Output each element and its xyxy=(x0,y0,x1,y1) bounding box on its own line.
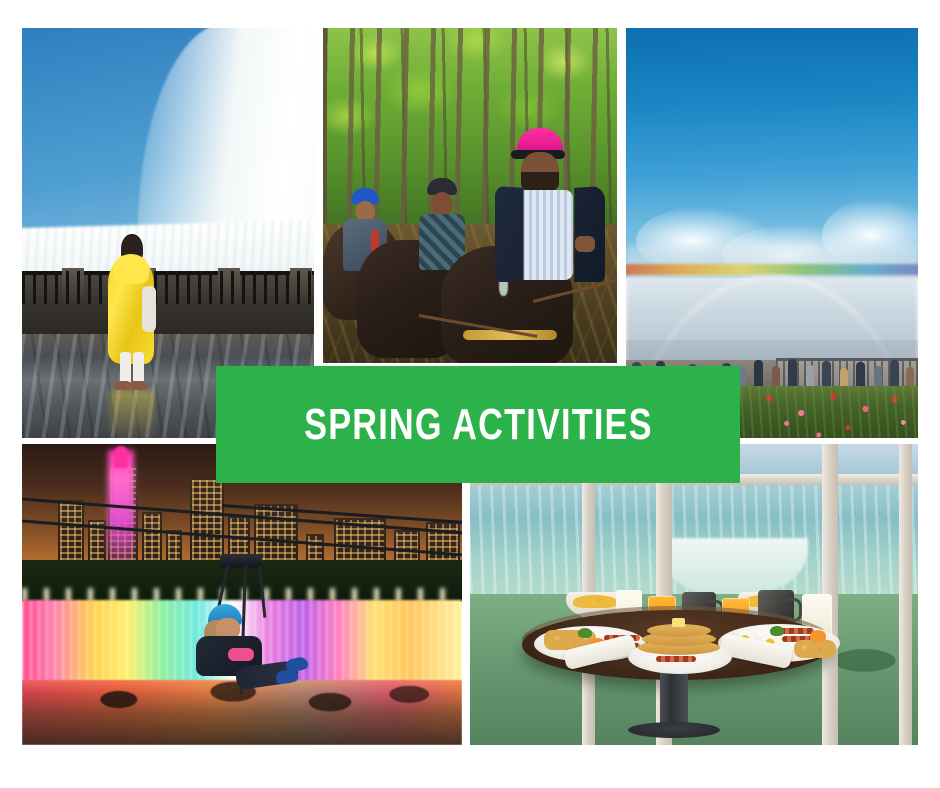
photo-horseback-riding xyxy=(323,28,617,363)
bacon-strip xyxy=(780,628,814,634)
home-fries xyxy=(794,640,836,658)
butter-pat xyxy=(672,618,685,627)
tower-beacon xyxy=(114,446,128,468)
photo-night-zipline xyxy=(22,444,462,745)
title-banner: SPRING ACTIVITIES xyxy=(216,366,740,483)
shoe-right xyxy=(130,381,148,390)
leg-right xyxy=(133,352,144,384)
orange-slice xyxy=(810,630,826,642)
table-pedestal xyxy=(660,666,688,728)
zipline-rider xyxy=(190,604,310,700)
photo-breakfast-with-view xyxy=(470,444,918,745)
sleeve xyxy=(142,286,156,332)
pancake-stack xyxy=(638,620,720,654)
table-base xyxy=(628,722,720,738)
parsley-garnish xyxy=(578,628,592,638)
rider-head xyxy=(431,192,453,216)
puddle-reflection xyxy=(110,390,154,438)
photo-collage: SPRING ACTIVITIES xyxy=(0,0,940,788)
leg-left xyxy=(120,352,131,384)
rider-with-pink-helmet xyxy=(501,128,617,278)
parsley-garnish xyxy=(770,626,784,636)
poncho-hood xyxy=(113,254,149,284)
hand-on-reins xyxy=(575,236,595,252)
person-in-yellow-poncho xyxy=(108,234,160,394)
rider-with-dark-helmet xyxy=(415,178,469,268)
pink-sleeve xyxy=(228,648,254,661)
bacon-strip xyxy=(656,656,696,662)
safety-railing xyxy=(22,268,314,304)
page-title: SPRING ACTIVITIES xyxy=(304,403,653,447)
shoe xyxy=(275,668,299,685)
illuminated-tower xyxy=(108,450,134,576)
